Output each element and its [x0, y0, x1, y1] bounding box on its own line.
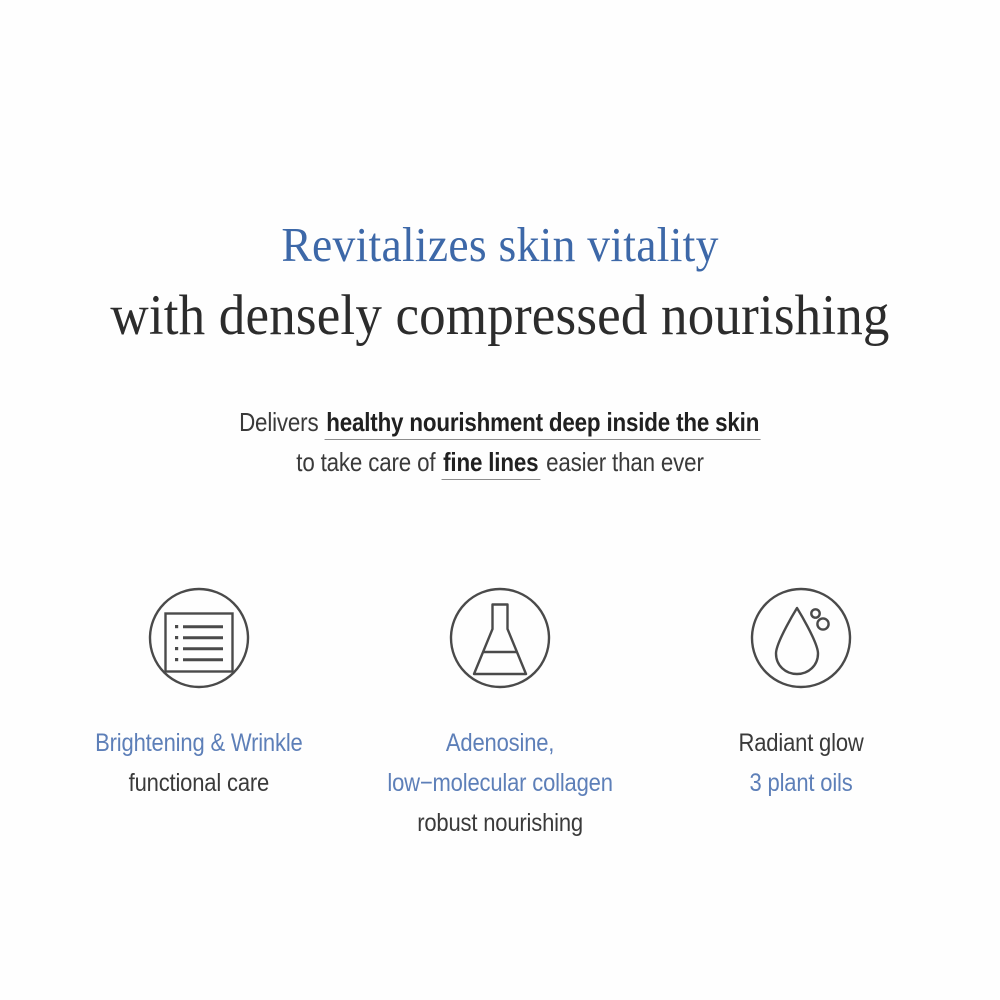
- feature-caption-line-1: Adenosine,: [387, 723, 612, 763]
- certificate-document-icon: [141, 580, 257, 696]
- feature-caption-line-2: low−molecular collagen: [387, 763, 612, 803]
- subtext-line-2-prefix: to take care of: [296, 447, 441, 477]
- subtext-line-1-prefix: Delivers: [239, 407, 324, 437]
- feature-item-radiant-glow: Radiant glow 3 plant oils: [651, 580, 952, 803]
- headline-line-1: Revitalizes skin vitality: [35, 212, 965, 278]
- feature-caption-line-2: functional care: [95, 763, 302, 803]
- feature-caption: Brightening & Wrinkle functional care: [95, 723, 302, 803]
- feature-item-brightening-wrinkle: Brightening & Wrinkle functional care: [49, 580, 350, 803]
- erlenmeyer-flask-icon: [442, 580, 558, 696]
- headline-block: Revitalizes skin vitality with densely c…: [0, 212, 1000, 354]
- subtext-line-2: to take care of fine lines easier than e…: [70, 442, 930, 482]
- feature-caption-line-1: Brightening & Wrinkle: [95, 723, 302, 763]
- subtext-line-1: Delivers healthy nourishment deep inside…: [70, 402, 930, 442]
- promo-infographic: Revitalizes skin vitality with densely c…: [0, 0, 1000, 1000]
- feature-caption: Radiant glow 3 plant oils: [738, 723, 863, 803]
- subtext-block: Delivers healthy nourishment deep inside…: [0, 402, 1000, 482]
- subtext-line-1-emphasis: healthy nourishment deep inside the skin: [325, 407, 761, 440]
- subtext-line-2-emphasis: fine lines: [441, 447, 540, 480]
- subtext-line-2-suffix: easier than ever: [540, 447, 704, 477]
- feature-caption-line-3: robust nourishing: [387, 803, 612, 843]
- feature-caption-line-1: Radiant glow: [738, 723, 863, 763]
- feature-caption: Adenosine, low−molecular collagen robust…: [387, 723, 612, 843]
- feature-list: Brightening & Wrinkle functional care Ad…: [0, 580, 1000, 843]
- water-droplet-icon: [743, 580, 859, 696]
- feature-item-adenosine-collagen: Adenosine, low−molecular collagen robust…: [350, 580, 651, 843]
- headline-line-2: with densely compressed nourishing: [35, 278, 965, 354]
- feature-caption-line-2: 3 plant oils: [738, 763, 863, 803]
